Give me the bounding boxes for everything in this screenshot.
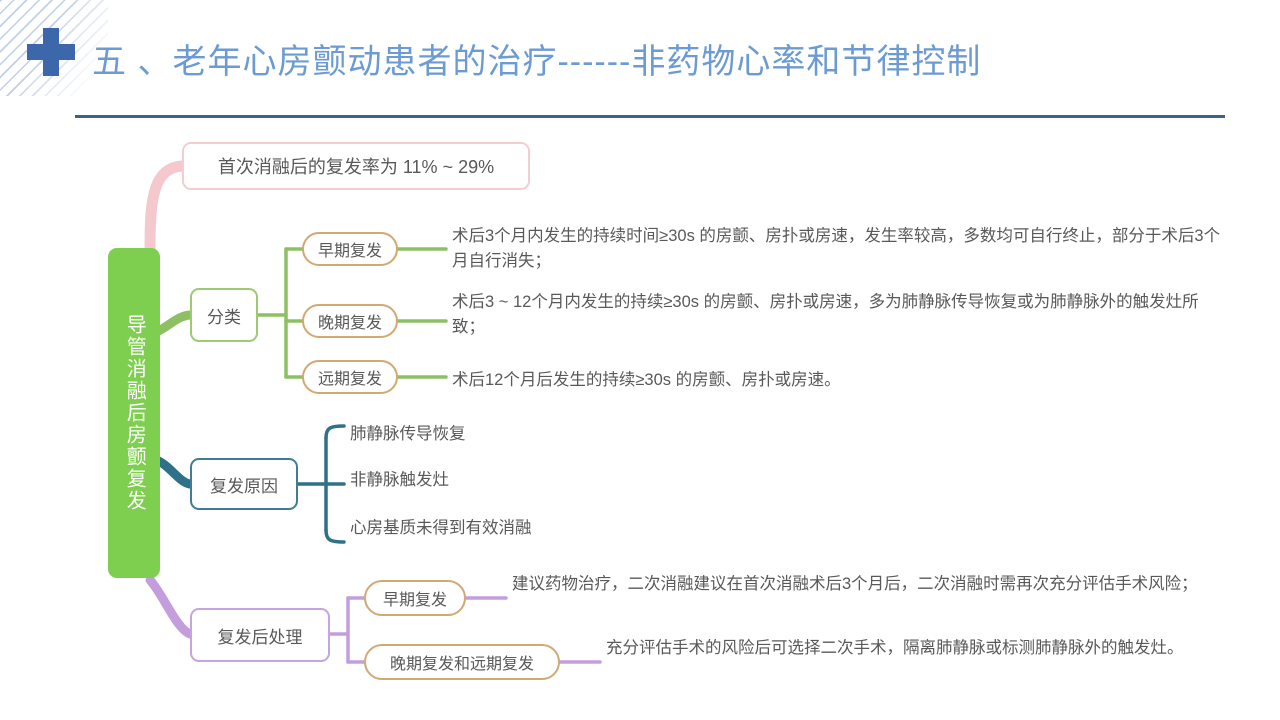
node-post-early-recurrence[interactable]: 早期复发	[364, 580, 466, 616]
mindmap: 导管消融后房颤复发 首次消融后的复发率为 11% ~ 29% 分类 早期复发 晚…	[0, 128, 1280, 720]
plus-icon	[27, 28, 75, 76]
node-early-recurrence[interactable]: 早期复发	[302, 232, 398, 266]
node-classification[interactable]: 分类	[190, 288, 258, 342]
node-recurrence-causes[interactable]: 复发原因	[190, 458, 298, 510]
text-late-recurrence: 术后3 ~ 12个月内发生的持续≥30s 的房颤、房扑或房速，多为肺静脉传导恢复…	[452, 290, 1224, 340]
text-cause-3: 心房基质未得到有效消融	[350, 516, 770, 541]
text-early-recurrence: 术后3个月内发生的持续时间≥30s 的房颤、房扑或房速，发生率较高，多数均可自行…	[452, 224, 1224, 274]
text-post-late-recurrence: 充分评估手术的风险后可选择二次手术，隔离肺静脉或标测肺静脉外的触发灶。	[606, 636, 1224, 661]
text-very-late-recurrence: 术后12个月后发生的持续≥30s 的房颤、房扑或房速。	[452, 368, 1224, 393]
node-post-late-and-very-late-recurrence[interactable]: 晚期复发和远期复发	[364, 644, 560, 680]
node-very-late-recurrence[interactable]: 远期复发	[302, 360, 398, 394]
node-first-ablation-rate[interactable]: 首次消融后的复发率为 11% ~ 29%	[182, 142, 530, 190]
node-late-recurrence[interactable]: 晚期复发	[302, 304, 398, 338]
text-post-early-recurrence: 建议药物治疗，二次消融建议在首次消融术后3个月后，二次消融时需再次充分评估手术风…	[512, 572, 1224, 597]
text-cause-2: 非静脉触发灶	[350, 468, 770, 493]
title-divider	[75, 115, 1225, 118]
text-cause-1: 肺静脉传导恢复	[350, 422, 770, 447]
node-post-recurrence-management[interactable]: 复发后处理	[190, 608, 330, 662]
page-title: 五 、老年心房颤动患者的治疗------非药物心率和节律控制	[92, 44, 981, 81]
slide-canvas: 五 、老年心房颤动患者的治疗------非药物心率和节律控制	[0, 0, 1280, 720]
mindmap-root-node[interactable]: 导管消融后房颤复发	[108, 248, 160, 578]
